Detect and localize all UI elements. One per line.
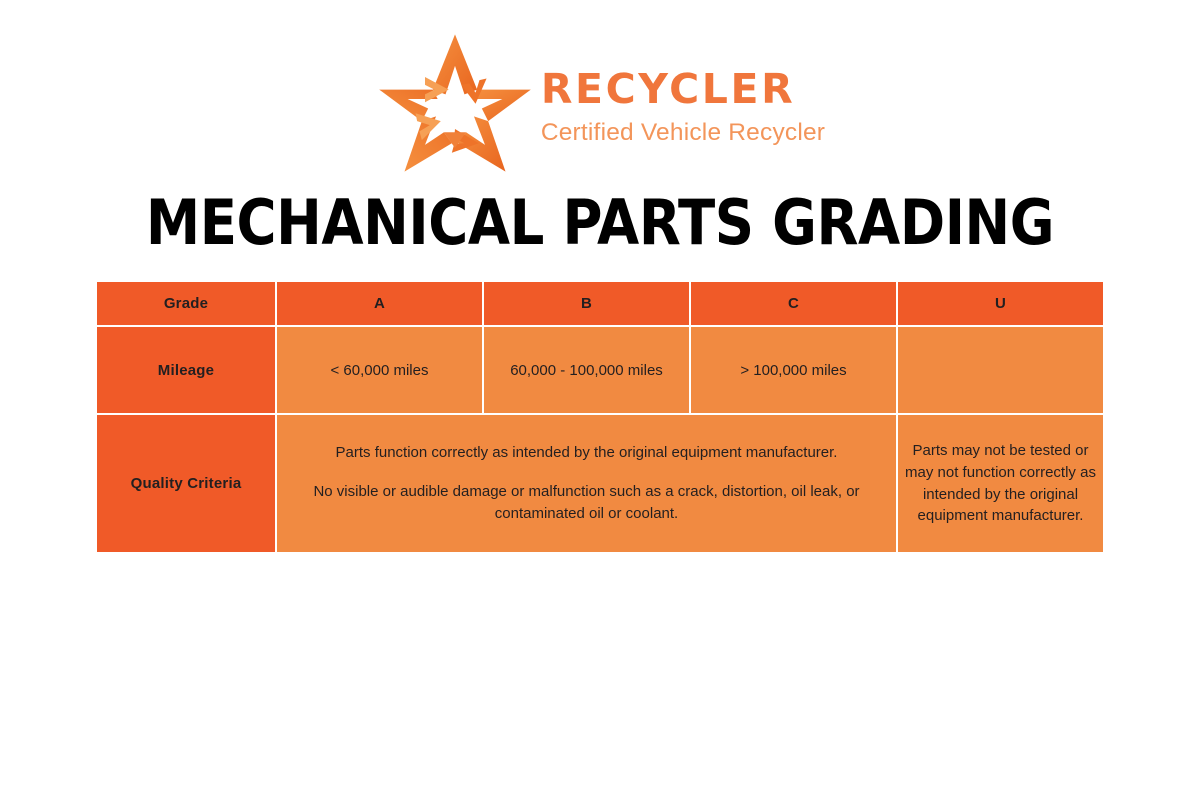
header-cell-grade: Grade [96,281,276,326]
cell-quality-abc-merged: Parts function correctly as intended by … [276,414,897,553]
recycling-star-logo-icon [375,28,535,178]
table-header-row: Grade A B C U [96,281,1104,326]
row-label-quality-criteria: Quality Criteria [96,414,276,553]
cell-mileage-c: > 100,000 miles [690,326,897,414]
logo-text-group: RECYCLER Certified Vehicle Recycler [541,61,825,146]
header-cell-a: A [276,281,483,326]
brand-name: RECYCLER [541,69,825,110]
table-row-mileage: Mileage < 60,000 miles 60,000 - 100,000 … [96,326,1104,414]
cell-mileage-u [897,326,1104,414]
table-row-quality-criteria: Quality Criteria Parts function correctl… [96,414,1104,553]
cell-mileage-a: < 60,000 miles [276,326,483,414]
cell-quality-u: Parts may not be tested or may not funct… [897,414,1104,553]
row-label-mileage: Mileage [96,326,276,414]
header-cell-u: U [897,281,1104,326]
mechanical-parts-grading-table: Grade A B C U Mileage < 60,000 miles 60,… [95,280,1105,554]
header-cell-b: B [483,281,690,326]
page-title: MECHANICAL PARTS GRADING [72,190,1128,255]
quality-paragraph-1: Parts function correctly as intended by … [277,442,896,464]
cell-mileage-b: 60,000 - 100,000 miles [483,326,690,414]
logo-lockup: RECYCLER Certified Vehicle Recycler [375,28,825,178]
brand-tagline: Certified Vehicle Recycler [541,121,825,146]
grading-table-container: Grade A B C U Mileage < 60,000 miles 60,… [95,280,1105,554]
quality-paragraph-2: No visible or audible damage or malfunct… [277,481,896,525]
header-cell-c: C [690,281,897,326]
logo-header: RECYCLER Certified Vehicle Recycler [0,0,1200,178]
